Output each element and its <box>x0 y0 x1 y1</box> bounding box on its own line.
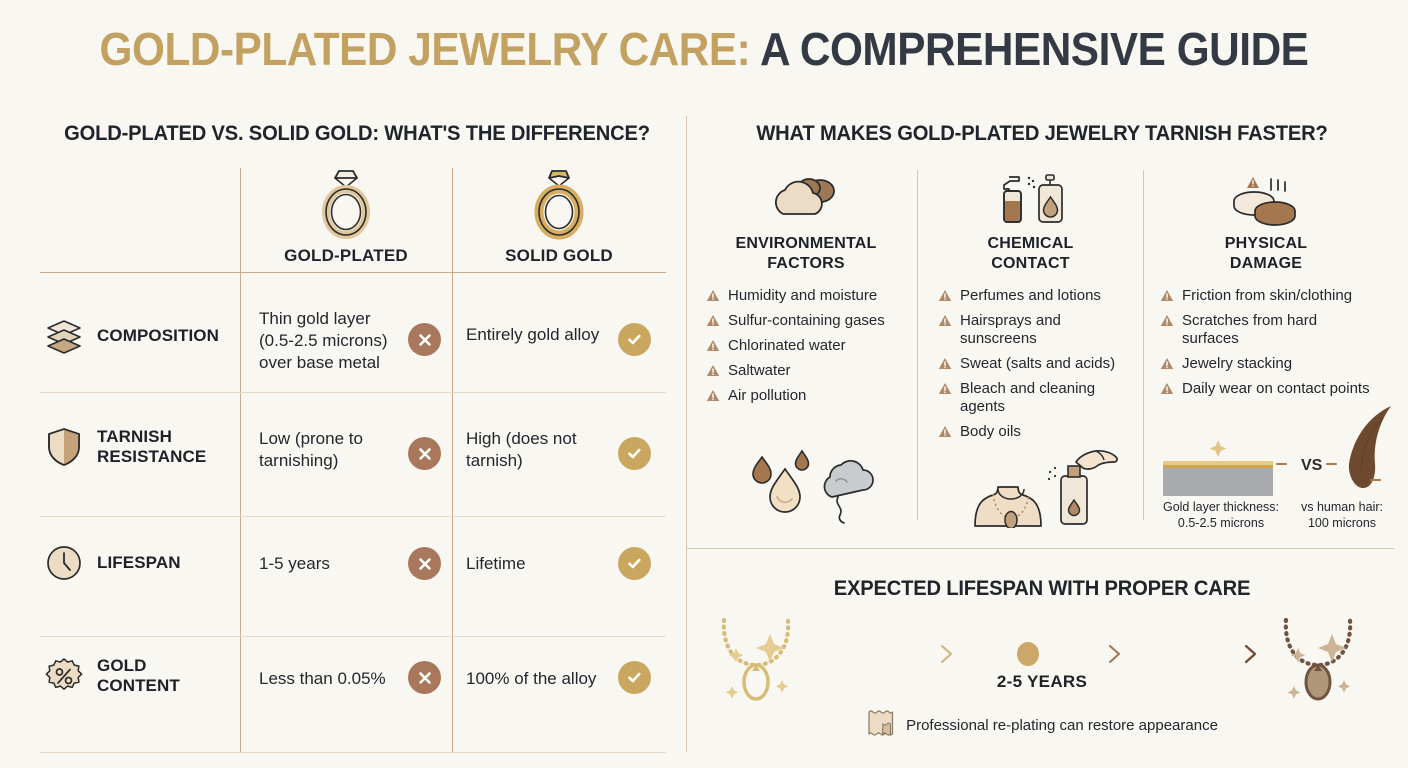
list-item-text: Saltwater <box>728 362 791 380</box>
factor-divider-2 <box>1143 170 1144 520</box>
list-item-text: Sulfur-containing gases <box>728 312 885 330</box>
warning-triangle-icon <box>938 382 952 395</box>
list-item-text: Bleach and cleaning agents <box>960 380 1123 416</box>
thickness-diagram: VS <box>1155 400 1400 505</box>
table-rule-2 <box>40 516 666 517</box>
panel-vertical-divider <box>686 116 687 752</box>
list-item-text: Hairsprays and sunscreens <box>960 312 1123 348</box>
table-rule-1 <box>40 392 666 393</box>
table-cell-plated-value: Less than 0.05% <box>259 668 419 690</box>
list-item: Saltwater <box>706 362 906 380</box>
page-title: GOLD-PLATED JEWELRY CARE: A COMPREHENSIV… <box>56 22 1351 76</box>
table-cell-plated-value: Low (prone to tarnishing) <box>259 428 409 472</box>
title-dark-part: A COMPREHENSIVE GUIDE <box>760 23 1308 75</box>
list-item-text: Chlorinated water <box>728 337 846 355</box>
factor-list-environmental: Humidity and moisture Sulfur-containing … <box>706 287 906 405</box>
warning-triangle-icon <box>706 314 720 327</box>
factor-name-chemical: CHEMICAL CONTACT <box>938 234 1123 273</box>
warning-triangle-icon <box>938 425 952 438</box>
gold-thickness-caption: Gold layer thickness: 0.5-2.5 microns <box>1155 500 1287 531</box>
lifespan-section-heading: EXPECTED LIFESPAN WITH PROPER CARE <box>704 577 1380 601</box>
list-item: Sulfur-containing gases <box>706 312 906 330</box>
table-header-label-solid-gold: SOLID GOLD <box>452 246 666 266</box>
list-item-text: Friction from skin/clothing <box>1182 287 1352 305</box>
status-badge-positive <box>618 661 651 694</box>
table-cell-solid-value: High (does not tarnish) <box>466 428 616 472</box>
list-item-text: Daily wear on contact points <box>1182 380 1370 398</box>
table-rule-header <box>40 272 666 273</box>
close-icon <box>417 556 433 572</box>
table-rule-3 <box>40 636 666 637</box>
check-icon <box>626 331 643 348</box>
table-rule-4 <box>40 752 666 753</box>
close-icon <box>417 332 433 348</box>
list-item: Friction from skin/clothing <box>1160 287 1372 305</box>
list-item-text: Perfumes and lotions <box>960 287 1101 305</box>
table-row: COMPOSITION <box>44 316 219 356</box>
list-item-text: Air pollution <box>728 387 806 405</box>
factor-column-environmental: ENVIRONMENTAL FACTORS Humidity and moist… <box>706 168 906 412</box>
warning-triangle-icon <box>1160 357 1174 370</box>
list-item: Air pollution <box>706 387 906 405</box>
clock-icon <box>44 543 84 583</box>
check-icon <box>626 555 643 572</box>
hair-thickness-caption: vs human hair: 100 microns <box>1283 500 1401 531</box>
table-row: TARNISH RESISTANCE <box>44 426 206 468</box>
vs-label: VS <box>1301 457 1323 474</box>
list-item: Jewelry stacking <box>1160 355 1372 373</box>
list-item: Sweat (salts and acids) <box>938 355 1123 373</box>
lifespan-timeline <box>800 636 1280 672</box>
check-icon <box>626 445 643 462</box>
warning-triangle-icon <box>938 357 952 370</box>
scratched-discs-icon <box>1223 171 1309 227</box>
table-row: GOLD CONTENT <box>44 656 180 696</box>
table-cell-solid-value: Lifetime <box>466 553 616 575</box>
table-cell-solid-value: 100% of the alloy <box>466 668 626 690</box>
factor-name-environmental: ENVIRONMENTAL FACTORS <box>706 234 906 273</box>
list-item: Humidity and moisture <box>706 287 906 305</box>
lifespan-duration: 2-5 YEARS <box>690 672 1394 692</box>
water-droplets-and-smog-icon <box>740 445 880 525</box>
ring-solid-icon <box>528 168 590 242</box>
close-icon <box>417 446 433 462</box>
replating-note-text: Professional re-plating can restore appe… <box>906 717 1218 734</box>
status-badge-positive <box>618 323 651 356</box>
ring-plated-icon <box>315 168 377 242</box>
table-header-solid-gold: SOLID GOLD <box>452 168 666 266</box>
gold-layer-vs-hair-icon: VS Gold layer thickness: 0.5-2.5 microns… <box>1155 400 1400 505</box>
list-item-text: Sweat (salts and acids) <box>960 355 1115 373</box>
warning-triangle-icon <box>706 364 720 377</box>
new-necklace-icon <box>706 612 806 707</box>
list-item-text: Humidity and moisture <box>728 287 877 305</box>
panel-horizontal-divider <box>687 548 1394 549</box>
spray-bottles-icon <box>985 171 1077 227</box>
status-badge-positive <box>618 437 651 470</box>
factor-name-physical: PHYSICAL DAMAGE <box>1160 234 1372 273</box>
factor-icon-wrap <box>938 168 1123 230</box>
warning-triangle-icon <box>706 339 720 352</box>
factor-list-physical: Friction from skin/clothing Scratches fr… <box>1160 287 1372 398</box>
tarnished-necklace-icon <box>1268 612 1368 707</box>
warning-triangle-icon <box>938 289 952 302</box>
factor-icon-wrap <box>706 168 906 230</box>
list-item-text: Scratches from hard surfaces <box>1182 312 1372 348</box>
list-item: Bleach and cleaning agents <box>938 380 1123 416</box>
hand-spraying-perfume-on-necklace-icon <box>945 448 1120 528</box>
status-badge-negative <box>408 437 441 470</box>
shield-icon <box>44 426 84 468</box>
status-badge-negative <box>408 661 441 694</box>
factor-divider-1 <box>917 170 918 520</box>
warning-triangle-icon <box>1160 289 1174 302</box>
list-item: Scratches from hard surfaces <box>1160 312 1372 348</box>
left-section-heading: GOLD-PLATED VS. SOLID GOLD: WHAT'S THE D… <box>57 122 658 146</box>
list-item: Chlorinated water <box>706 337 906 355</box>
table-row-label: TARNISH RESISTANCE <box>97 427 206 466</box>
list-item-text: Jewelry stacking <box>1182 355 1292 373</box>
table-cell-plated-value: Thin gold layer (0.5-2.5 microns) over b… <box>259 308 419 374</box>
status-badge-negative <box>408 547 441 580</box>
status-badge-negative <box>408 323 441 356</box>
table-row-label: COMPOSITION <box>97 326 219 346</box>
list-item: Daily wear on contact points <box>1160 380 1372 398</box>
warning-triangle-icon <box>706 289 720 302</box>
close-icon <box>417 670 433 686</box>
status-badge-positive <box>618 547 651 580</box>
percent-badge-icon <box>44 656 84 696</box>
table-row: LIFESPAN <box>44 543 181 583</box>
table-row-label: LIFESPAN <box>97 553 181 573</box>
list-item: Body oils <box>938 423 1123 441</box>
warning-triangle-icon <box>1160 382 1174 395</box>
right-section-heading: WHAT MAKES GOLD-PLATED JEWELRY TARNISH F… <box>704 122 1380 146</box>
table-cell-solid-value: Entirely gold alloy <box>466 324 621 346</box>
warning-triangle-icon <box>1160 314 1174 327</box>
factor-column-chemical: CHEMICAL CONTACT Perfumes and lotions Ha… <box>938 168 1123 448</box>
table-header-gold-plated: GOLD-PLATED <box>240 168 452 266</box>
list-item: Hairsprays and sunscreens <box>938 312 1123 348</box>
layers-icon <box>44 316 84 356</box>
infographic-page: GOLD-PLATED JEWELRY CARE: A COMPREHENSIV… <box>0 0 1408 768</box>
list-item-text: Body oils <box>960 423 1021 441</box>
factor-column-physical: PHYSICAL DAMAGE Friction from skin/cloth… <box>1160 168 1372 405</box>
table-cell-plated-value: 1-5 years <box>259 553 409 575</box>
polishing-cloth-icon <box>866 708 896 742</box>
list-item: Perfumes and lotions <box>938 287 1123 305</box>
cloud-icon <box>769 174 843 224</box>
title-gold-part: GOLD-PLATED JEWELRY CARE: <box>100 23 751 75</box>
replating-note: Professional re-plating can restore appe… <box>690 708 1394 742</box>
check-icon <box>626 669 643 686</box>
factor-list-chemical: Perfumes and lotions Hairsprays and suns… <box>938 287 1123 441</box>
comparison-table: GOLD-PLATED SOLID GOLD COMPOSITION <box>40 168 666 752</box>
factor-icon-wrap <box>1160 168 1372 230</box>
table-header-label-gold-plated: GOLD-PLATED <box>240 246 452 266</box>
warning-triangle-icon <box>706 389 720 402</box>
table-row-label: GOLD CONTENT <box>97 656 180 695</box>
warning-triangle-icon <box>938 314 952 327</box>
